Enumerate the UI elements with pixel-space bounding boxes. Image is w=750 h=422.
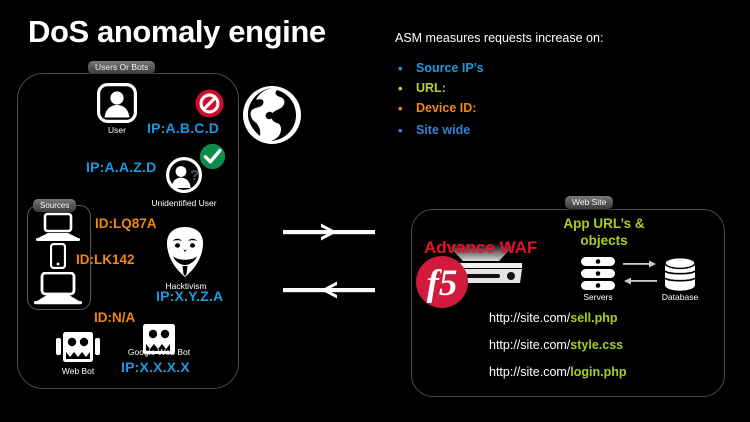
database-icon [664,257,696,291]
arrow-right [283,224,375,241]
asm-bullet-item-0: • Source IP’s [398,58,628,78]
web-site-tag: Web Site [565,196,613,209]
bullet-dot-icon: • [398,82,416,95]
app-url-resource-2: login.php [570,365,626,379]
web-bot-icon [56,330,100,364]
app-url-row-0: http://site.com/sell.php [489,311,627,325]
asm-bullet-item-2: • Device ID: [398,98,628,118]
app-url-resource-0: sell.php [570,311,617,325]
google-web-bot-caption: Google Web Bot [115,347,203,357]
asm-bullet-item-1: • URL: [398,78,628,98]
device-id-label-1: ID:LQ87A [95,216,157,231]
traffic-flow-arrows [283,222,403,300]
mobile-phone-icon [50,243,66,269]
app-url-base-0: http://site.com/ [489,311,570,325]
users-or-bots-tag: Users Or Bots [88,61,155,74]
app-url-base-2: http://site.com/ [489,365,570,379]
asm-bullet-label-1: URL: [416,81,446,95]
app-url-row-1: http://site.com/style.css [489,338,627,352]
sources-tag: Sources [33,199,76,212]
asm-bullet-label-2: Device ID: [416,101,476,115]
app-url-row-2: http://site.com/login.php [489,365,627,379]
asm-bullet-label-3: Site wide [416,123,470,137]
advance-waf-title: Advance WAF [424,238,537,258]
allowed-icon [199,143,226,170]
blocked-icon [194,88,225,119]
unidentified-user-icon: ? [166,157,202,193]
page-title: DoS anomaly engine [28,14,326,50]
servers-icon [581,257,615,291]
asm-bullet-item-3: • Site wide [398,118,628,142]
desktop-computer-icon [34,272,82,305]
unidentified-user-caption: Unidentified User [148,198,220,208]
user-caption: User [97,125,137,135]
app-url-base-1: http://site.com/ [489,338,570,352]
web-bot-caption: Web Bot [57,366,99,376]
guy-fawkes-mask-icon [164,226,206,278]
app-url-resource-1: style.css [570,338,623,352]
unidentified-user-ip-label: IP:A.A.Z.D [86,159,156,175]
user-icon [97,83,137,123]
database-caption: Database [655,292,705,302]
bullet-dot-icon: • [398,62,416,75]
bullet-dot-icon: • [398,124,416,137]
svg-text:?: ? [190,167,199,184]
google-web-bot-ip-label: IP:X.X.X.X [121,359,190,375]
asm-heading: ASM measures requests increase on: [395,31,603,45]
app-url-list: http://site.com/sell.php http://site.com… [489,311,627,392]
asm-bullet-list: • Source IP’s • URL: • Device ID: • Site… [398,58,628,142]
device-id-label-3: ID:N/A [94,310,135,325]
servers-caption: Servers [578,292,618,302]
svg-text:f5: f5 [427,263,458,304]
f5-logo: f5 [415,255,469,309]
hacktivism-ip-label: IP:X.Y.Z.A [156,288,223,304]
arrow-left [283,282,375,299]
device-id-label-2: ID:LK142 [76,252,135,267]
asm-bullet-label-0: Source IP’s [416,61,484,75]
app-urls-objects-title: App URL’s & objects [546,215,662,249]
user-ip-label: IP:A.B.C.D [147,120,219,136]
server-database-arrows [623,259,657,287]
bullet-dot-icon: • [398,102,416,115]
globe-icon [241,84,303,146]
laptop-icon [36,212,80,242]
